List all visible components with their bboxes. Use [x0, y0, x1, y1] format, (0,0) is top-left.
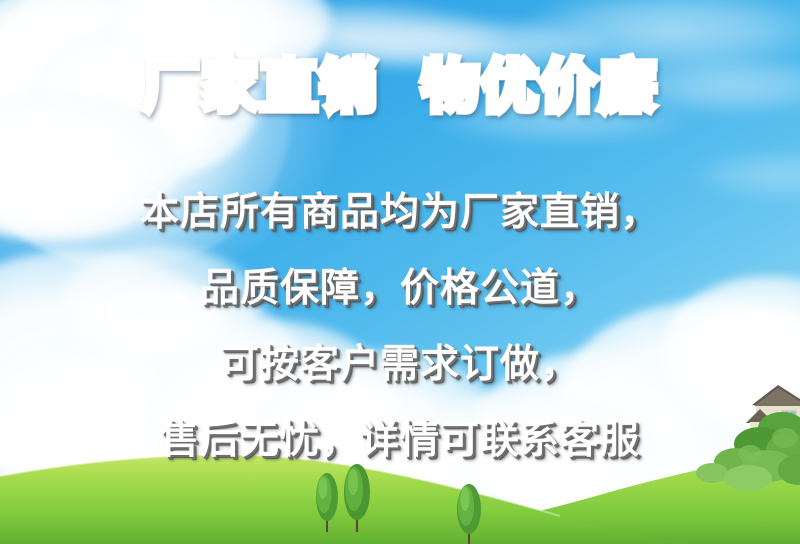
body-line: 本店所有商品均为厂家直销，: [0, 175, 800, 251]
body-line: 售后无忧，详情可联系客服: [0, 403, 800, 479]
body-line: 可按客户需求订做，: [0, 327, 800, 403]
body-copy: 本店所有商品均为厂家直销， 品质保障，价格公道， 可按客户需求订做， 售后无忧，…: [0, 175, 800, 479]
page-title: 厂家直销 物优价廉: [0, 58, 800, 118]
tree-center: [453, 481, 485, 544]
body-line: 品质保障，价格公道，: [0, 251, 800, 327]
promo-banner: 厂家直销 物优价廉 厂家直销 物优价廉 本店所有商品均为厂家直销， 品质保障，价…: [0, 0, 800, 544]
tree-left-pair-a: [313, 470, 341, 536]
